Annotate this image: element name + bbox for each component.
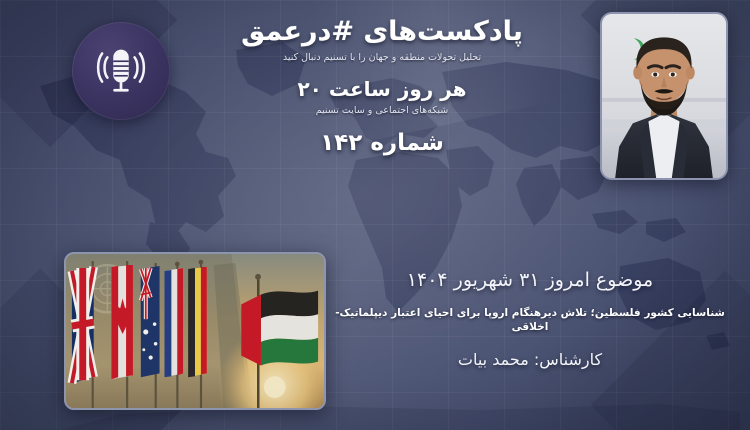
guest-portrait-photo	[600, 12, 728, 180]
page-subtitle: تحلیل تحولات منطقه و جهان را با تسنیم دن…	[182, 52, 582, 64]
body-text-block: موضوع امروز ۳۱ شهریور ۱۴۰۴ شناسایی کشور …	[330, 268, 730, 369]
schedule-sub-line: شبکه‌های اجتماعی و سایت تسنیم	[182, 105, 582, 116]
schedule-line: هر روز ساعت ۲۰	[182, 77, 582, 101]
podcast-promo-poster: پادکست‌های #درعمق تحلیل تحولات منطقه و ج…	[0, 0, 750, 430]
guest-name-line: کارشناس: محمد بیات	[330, 350, 730, 369]
topic-date-line: موضوع امروز ۳۱ شهریور ۱۴۰۴	[330, 268, 730, 293]
flags-united-nations-palestine-photo	[64, 252, 326, 410]
header-text-block: پادکست‌های #درعمق تحلیل تحولات منطقه و ج…	[182, 16, 582, 156]
microphone-podcast-icon	[90, 38, 152, 104]
episode-description: شناسایی کشور فلسطین؛ تلاش دیرهنگام اروپا…	[330, 306, 730, 335]
episode-number: شماره ۱۴۲	[182, 130, 582, 156]
page-title: پادکست‌های #درعمق	[182, 16, 582, 47]
podcast-mic-badge	[72, 22, 170, 120]
